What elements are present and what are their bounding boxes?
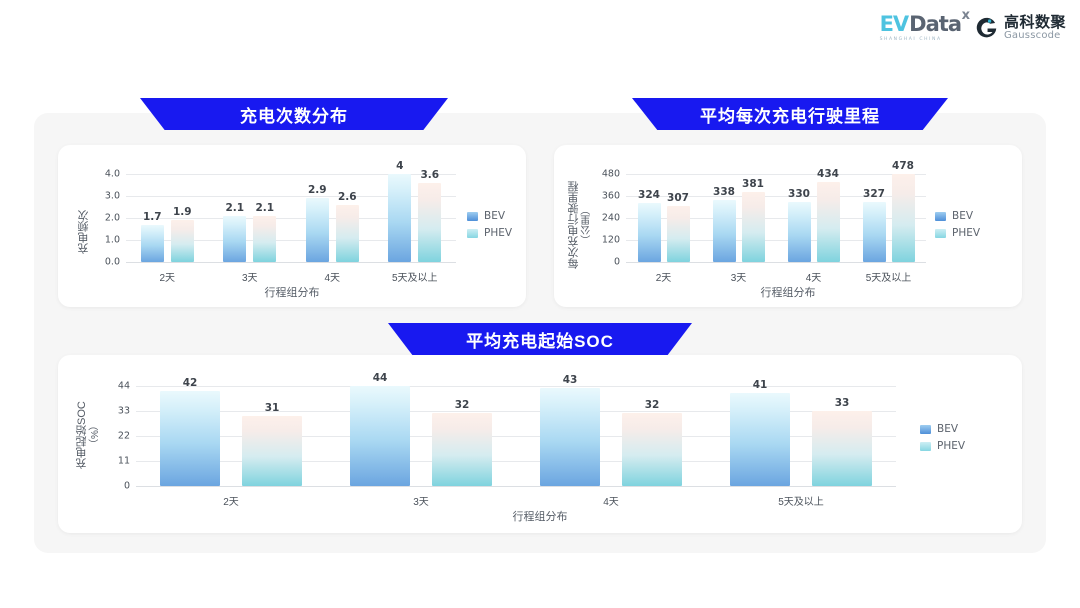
y-axis-tick: 3.0 (105, 191, 120, 202)
x-axis-tick: 5天及以上 (778, 493, 824, 508)
y-axis-tick: 22 (118, 431, 130, 442)
x-axis-tick: 5天及以上 (392, 269, 438, 284)
bar-bev-5天及以上[interactable] (863, 202, 886, 262)
bar-phev-4天[interactable] (336, 205, 359, 262)
bar-phev-2天[interactable] (242, 416, 302, 486)
bar-phev-2天[interactable] (667, 206, 690, 262)
chart-title-banner-avg-range: 平均每次充电行驶里程 (632, 98, 948, 130)
bar-phev-2天[interactable] (171, 220, 194, 262)
bar-phev-3天[interactable] (432, 413, 492, 486)
bar-value-label: 327 (863, 188, 885, 200)
bar-value-label: 43 (563, 374, 578, 386)
y-axis-tick: 480 (602, 169, 620, 180)
y-axis-tick: 1.0 (105, 235, 120, 246)
bar-bev-2天[interactable] (141, 225, 164, 262)
gridline (626, 174, 926, 175)
bar-phev-3天[interactable] (253, 216, 276, 262)
x-axis-tick: 5天及以上 (866, 269, 912, 284)
chart-title-banner-avg-start-soc: 平均充电起始SOC (388, 323, 692, 355)
chart2-y-axis-label: 每次充电行驶里程 （公里） (568, 171, 596, 279)
brand-logo-bar: EV Data x SHANGHAI CHINA 高科数聚 Gausscode (880, 14, 1066, 42)
legend-label-bev: BEV (952, 210, 973, 222)
x-axis-tick: 4天 (324, 269, 340, 284)
gausscode-cn-name: 高科数聚 (1004, 15, 1066, 31)
bar-value-label: 2.9 (308, 184, 327, 196)
y-axis-tick: 240 (602, 213, 620, 224)
y-axis-tick: 0 (124, 481, 130, 492)
y-axis-tick: 33 (118, 406, 130, 417)
chart3-legend: BEV PHEV (920, 423, 965, 452)
chart-card-charging-frequency: 充电频次 0.01.02.03.04.0 1.71.92.12.12.92.64… (58, 145, 526, 307)
x-axis-tick: 2天 (159, 269, 175, 284)
chart2-y-axis-label-text: 每次充电行驶里程 (568, 181, 580, 269)
legend-label-bev: BEV (484, 210, 505, 222)
gausscode-logo: 高科数聚 Gausscode (975, 15, 1066, 41)
evdata-logo: EV Data x SHANGHAI CHINA (880, 14, 961, 42)
legend-label-phev: PHEV (937, 440, 965, 452)
bar-value-label: 41 (753, 379, 768, 391)
bar-value-label: 44 (373, 372, 388, 384)
bar-phev-4天[interactable] (622, 413, 682, 486)
y-axis-tick: 0.0 (105, 257, 120, 268)
bar-phev-4天[interactable] (817, 182, 840, 262)
chart1-y-axis-label: 充电频次 (76, 193, 92, 271)
axis-baseline (136, 486, 896, 487)
x-axis-tick: 4天 (806, 269, 822, 284)
x-axis-tick: 3天 (242, 269, 258, 284)
chart3-y-axis-label: 充电起始SOC （%） (76, 385, 104, 485)
chart3-y-axis-label-text: 充电起始SOC (76, 401, 88, 469)
bar-value-label: 1.9 (173, 206, 192, 218)
gausscode-text: 高科数聚 Gausscode (1004, 15, 1066, 41)
bar-phev-3天[interactable] (742, 192, 765, 262)
legend-swatch-bev-icon (935, 212, 946, 221)
gausscode-logo-icon (975, 17, 998, 40)
legend-item-phev[interactable]: PHEV (467, 227, 512, 239)
evdata-wordmark: EV Data x (880, 14, 961, 35)
bar-bev-3天[interactable] (713, 200, 736, 262)
bar-value-label: 32 (455, 399, 470, 411)
bar-value-label: 31 (265, 402, 280, 414)
bar-value-label: 2.1 (255, 202, 274, 214)
bar-value-label: 307 (667, 192, 689, 204)
legend-item-bev[interactable]: BEV (467, 210, 512, 222)
evdata-ev-text: EV (880, 14, 909, 35)
bar-value-label: 32 (645, 399, 660, 411)
legend-swatch-phev-icon (467, 229, 478, 238)
bar-bev-3天[interactable] (350, 386, 410, 486)
legend-item-phev[interactable]: PHEV (935, 227, 980, 239)
bar-bev-3天[interactable] (223, 216, 246, 262)
bar-bev-5天及以上[interactable] (730, 393, 790, 486)
evdata-x-icon: x (962, 9, 970, 22)
bar-value-label: 324 (638, 189, 660, 201)
bar-bev-5天及以上[interactable] (388, 174, 411, 262)
legend-swatch-bev-icon (467, 212, 478, 221)
x-axis-tick: 3天 (413, 493, 429, 508)
chart-avg-start-soc: 充电起始SOC （%） 011223344 4231443243324133 2… (58, 355, 1022, 533)
gausscode-en-name: Gausscode (1004, 31, 1066, 42)
bar-value-label: 3.6 (420, 169, 439, 181)
legend-label-phev: PHEV (484, 227, 512, 239)
chart-charging-frequency: 充电频次 0.01.02.03.04.0 1.71.92.12.12.92.64… (58, 145, 526, 307)
axis-baseline (626, 262, 926, 263)
chart3-y-axis-unit: （%） (90, 421, 101, 450)
gridline (136, 386, 896, 387)
axis-baseline (126, 262, 456, 263)
legend-label-bev: BEV (937, 423, 958, 435)
chart-card-avg-range: 每次充电行驶里程 （公里） 0120240360480 324307338381… (554, 145, 1022, 307)
bar-value-label: 338 (713, 186, 735, 198)
bar-value-label: 478 (892, 160, 914, 172)
y-axis-tick: 44 (118, 381, 130, 392)
x-axis-tick: 4天 (603, 493, 619, 508)
chart1-legend: BEV PHEV (467, 210, 512, 239)
y-axis-tick: 360 (602, 191, 620, 202)
y-axis-tick: 120 (602, 235, 620, 246)
y-axis-tick: 0 (614, 257, 620, 268)
bar-bev-4天[interactable] (306, 198, 329, 262)
y-axis-tick: 2.0 (105, 213, 120, 224)
bar-value-label: 33 (835, 397, 850, 409)
bar-value-label: 4 (396, 160, 403, 172)
chart3-x-axis-label: 行程组分布 (58, 508, 1022, 524)
chart2-y-axis-unit: （公里） (582, 205, 593, 245)
bar-phev-5天及以上[interactable] (418, 183, 441, 262)
legend-item-bev[interactable]: BEV (920, 423, 965, 435)
x-axis-tick: 2天 (223, 493, 239, 508)
y-axis-tick: 11 (118, 456, 130, 467)
evdata-data-text: Data (909, 14, 961, 35)
chart-avg-range: 每次充电行驶里程 （公里） 0120240360480 324307338381… (554, 145, 1022, 307)
legend-swatch-phev-icon (920, 442, 931, 451)
chart1-x-axis-label: 行程组分布 (58, 284, 526, 300)
chart2-legend: BEV PHEV (935, 210, 980, 239)
legend-label-phev: PHEV (952, 227, 980, 239)
chart-title-banner-charging-frequency: 充电次数分布 (140, 98, 448, 130)
bar-phev-5天及以上[interactable] (812, 411, 872, 486)
legend-item-phev[interactable]: PHEV (920, 440, 965, 452)
bar-bev-4天[interactable] (540, 388, 600, 486)
bar-value-label: 1.7 (143, 211, 162, 223)
bar-value-label: 42 (183, 377, 198, 389)
bar-value-label: 2.6 (338, 191, 357, 203)
bar-value-label: 2.1 (225, 202, 244, 214)
y-axis-tick: 4.0 (105, 169, 120, 180)
legend-item-bev[interactable]: BEV (935, 210, 980, 222)
bar-value-label: 330 (788, 188, 810, 200)
bar-phev-5天及以上[interactable] (892, 174, 915, 262)
bar-bev-2天[interactable] (160, 391, 220, 486)
legend-swatch-bev-icon (920, 425, 931, 434)
bar-bev-4天[interactable] (788, 202, 811, 263)
chart-card-avg-start-soc: 充电起始SOC （%） 011223344 4231443243324133 2… (58, 355, 1022, 533)
evdata-subtitle: SHANGHAI CHINA (880, 37, 942, 42)
x-axis-tick: 3天 (731, 269, 747, 284)
bar-value-label: 434 (817, 168, 839, 180)
bar-value-label: 381 (742, 178, 764, 190)
legend-swatch-phev-icon (935, 229, 946, 238)
chart2-x-axis-label: 行程组分布 (554, 284, 1022, 300)
bar-bev-2天[interactable] (638, 203, 661, 262)
x-axis-tick: 2天 (656, 269, 672, 284)
